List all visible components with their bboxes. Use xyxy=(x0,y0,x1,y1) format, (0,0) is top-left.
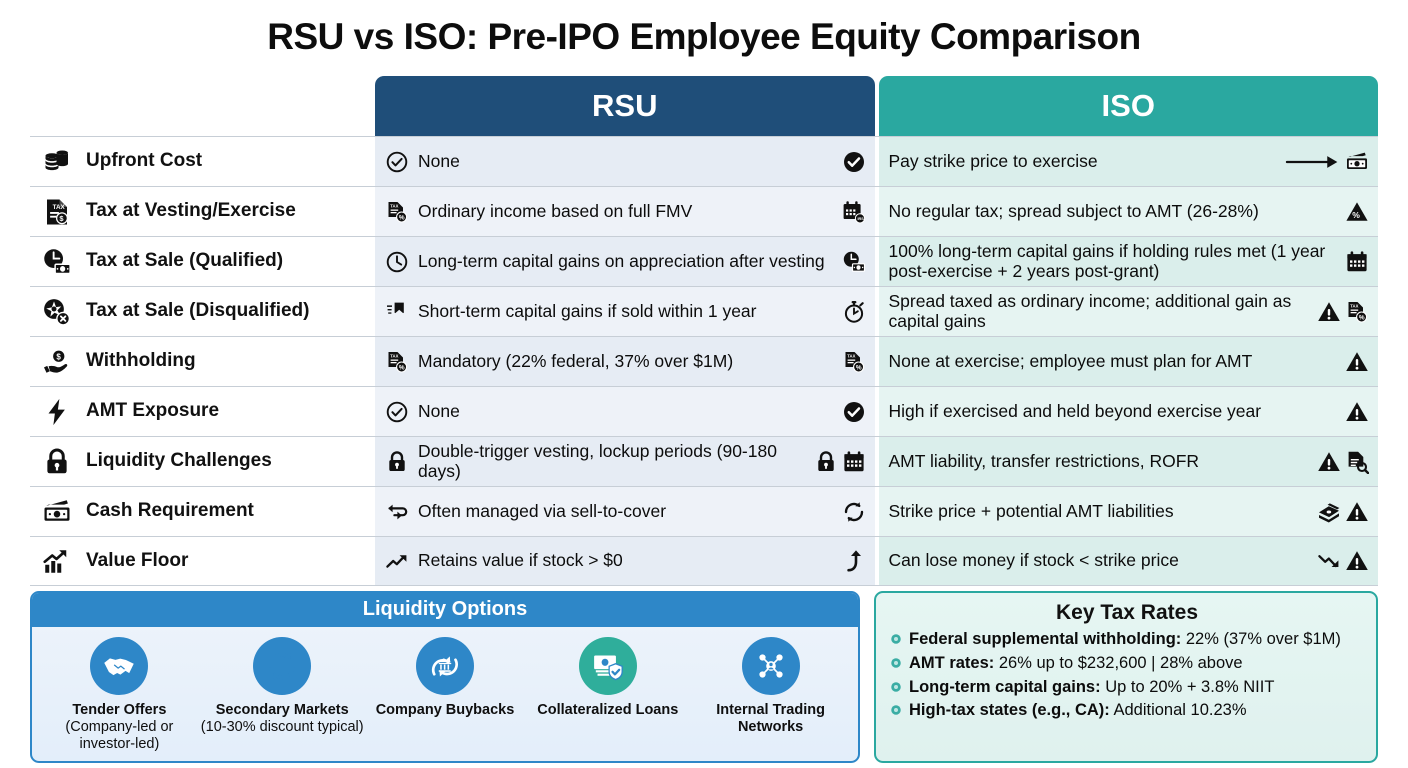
svg-text:%: % xyxy=(855,364,861,371)
rsu-cell: TAX%Mandatory (22% federal, 37% over $1M… xyxy=(375,337,875,386)
stopwatch-icon xyxy=(842,300,866,324)
liquidity-options-panel: Liquidity Options Tender Offers(Company-… xyxy=(30,591,860,763)
row-label-cell: Tax at Sale (Disqualified) xyxy=(30,287,375,336)
row-label-text: Liquidity Challenges xyxy=(86,451,272,472)
handshake-icon xyxy=(90,637,148,695)
infographic-page: RSU vs ISO: Pre-IPO Employee Equity Comp… xyxy=(0,0,1408,768)
tax-percent-doc-icon: TAX% xyxy=(385,200,409,224)
key-tax-rate-item: High-tax states (e.g., CA): Additional 1… xyxy=(890,700,1364,721)
liquidity-option-name: Collateralized Loans xyxy=(537,702,678,719)
svg-text:%: % xyxy=(1352,210,1360,220)
iso-cell: 100% long-term capital gains if holding … xyxy=(879,237,1379,286)
rsu-cell: None xyxy=(375,387,875,436)
table-row: Cash RequirementOften managed via sell-t… xyxy=(30,486,1378,536)
svg-text:TAX: TAX xyxy=(390,353,398,358)
check-circle-outline-icon xyxy=(385,400,409,424)
svg-text:TAX: TAX xyxy=(390,203,398,208)
tax-percent-doc-icon: TAX% xyxy=(1345,300,1369,324)
rsu-cell-icons xyxy=(814,450,866,474)
rsu-cell-icons xyxy=(842,400,866,424)
warning-triangle-icon xyxy=(1345,500,1369,524)
check-circle-outline-icon xyxy=(385,150,409,174)
key-tax-rate-text: Federal supplemental withholding: 22% (3… xyxy=(909,629,1341,650)
rsu-cell: Short-term capital gains if sold within … xyxy=(375,287,875,336)
key-tax-rate-item: Federal supplemental withholding: 22% (3… xyxy=(890,629,1364,650)
row-label-cell: TAX$Tax at Vesting/Exercise xyxy=(30,187,375,236)
iso-cell: Can lose money if stock < strike price xyxy=(879,537,1379,585)
key-tax-rate-label: AMT rates: xyxy=(909,654,994,672)
teal-bullet-icon xyxy=(890,657,902,669)
rsu-cell-text: Long-term capital gains on appreciation … xyxy=(418,252,833,272)
tax-percent-doc-icon: TAX% xyxy=(385,350,409,374)
key-tax-rate-text: AMT rates: 26% up to $232,600 | 28% abov… xyxy=(909,653,1243,674)
warning-triangle-icon xyxy=(1317,300,1341,324)
liquidity-option-item[interactable]: Internal Trading Networks xyxy=(689,637,852,753)
rsu-cell-icons xyxy=(842,500,866,524)
rsu-cell-text: Often managed via sell-to-cover xyxy=(418,502,833,522)
svg-text:TAX: TAX xyxy=(847,353,855,358)
svg-text:TAX: TAX xyxy=(1350,303,1358,308)
iso-cell: Strike price + potential AMT liabilities xyxy=(879,487,1379,536)
bank-buyback-icon xyxy=(416,637,474,695)
iso-cell-icons: % xyxy=(1345,200,1369,224)
warning-triangle-icon xyxy=(1345,400,1369,424)
liquidity-options-list: Tender Offers(Company-led or investor-le… xyxy=(32,627,858,761)
row-label-cell: Liquidity Challenges xyxy=(30,437,375,486)
cash-shield-icon xyxy=(579,637,637,695)
svg-text:%: % xyxy=(399,364,405,371)
row-label-text: Tax at Vesting/Exercise xyxy=(86,201,296,222)
rsu-cell: None xyxy=(375,137,875,186)
iso-cell-text: AMT liability, transfer restrictions, RO… xyxy=(889,452,1309,472)
table-row: Liquidity ChallengesDouble-trigger vesti… xyxy=(30,436,1378,486)
warning-triangle-icon xyxy=(1317,450,1341,474)
liquidity-option-item[interactable]: Company Buybacks xyxy=(364,637,527,753)
cash-bills-icon xyxy=(42,497,72,527)
check-circle-filled-icon xyxy=(842,400,866,424)
rsu-cell: Double-trigger vesting, lockup periods (… xyxy=(375,437,875,486)
calendar-icon xyxy=(842,450,866,474)
percent-triangle-icon: % xyxy=(1345,200,1369,224)
refresh-circular-icon xyxy=(253,637,311,695)
tax-document-icon: TAX$ xyxy=(42,197,72,227)
rsu-cell-icons xyxy=(842,549,866,573)
cash-bill-icon xyxy=(1345,150,1369,174)
broken-clock-x-icon xyxy=(42,297,72,327)
iso-cell-icons xyxy=(1317,500,1369,524)
calendar-icon xyxy=(1345,250,1369,274)
header-spacer xyxy=(30,76,375,136)
rsu-cell-icons xyxy=(842,300,866,324)
calendar-irs-icon: IRS xyxy=(842,200,866,224)
iso-cell-text: Spread taxed as ordinary income; additio… xyxy=(889,292,1309,331)
iso-cell: None at exercise; employee must plan for… xyxy=(879,337,1379,386)
row-label-text: Tax at Sale (Qualified) xyxy=(86,251,283,272)
key-tax-rate-text: Long-term capital gains: Up to 20% + 3.8… xyxy=(909,677,1274,698)
svg-text:$: $ xyxy=(56,352,61,361)
lock-icon xyxy=(42,447,72,477)
liquidity-option-item[interactable]: Tender Offers(Company-led or investor-le… xyxy=(38,637,201,753)
liquidity-option-sub: (Company-led or investor-led) xyxy=(38,719,201,753)
iso-cell-icons xyxy=(1345,350,1369,374)
row-label-text: Cash Requirement xyxy=(86,501,254,522)
iso-cell-text: Can lose money if stock < strike price xyxy=(889,551,1309,571)
money-stack-icon xyxy=(1317,500,1341,524)
lightning-bolt-icon xyxy=(42,397,72,427)
table-body: Upfront CostNonePay strike price to exer… xyxy=(30,136,1378,586)
key-tax-rates-heading: Key Tax Rates xyxy=(890,601,1364,625)
key-tax-rate-item: Long-term capital gains: Up to 20% + 3.8… xyxy=(890,677,1364,698)
key-tax-rate-item: AMT rates: 26% up to $232,600 | 28% abov… xyxy=(890,653,1364,674)
clock-cash-icon xyxy=(42,247,72,277)
iso-cell: High if exercised and held beyond exerci… xyxy=(879,387,1379,436)
arrow-right-icon xyxy=(1284,151,1341,173)
lock-icon xyxy=(814,450,838,474)
rsu-cell: Often managed via sell-to-cover xyxy=(375,487,875,536)
trend-up-icon xyxy=(385,549,409,573)
svg-text:%: % xyxy=(1359,314,1365,321)
key-tax-rate-value: 26% up to $232,600 | 28% above xyxy=(999,654,1243,672)
rsu-cell-icons: TAX% xyxy=(842,350,866,374)
rsu-cell-text: Retains value if stock > $0 xyxy=(418,551,833,571)
liquidity-options-heading: Liquidity Options xyxy=(32,593,858,627)
key-tax-rate-label: High-tax states (e.g., CA): xyxy=(909,701,1110,719)
key-tax-rate-value: 22% (37% over $1M) xyxy=(1186,630,1341,648)
iso-cell-icons: TAX% xyxy=(1317,300,1369,324)
page-title: RSU vs ISO: Pre-IPO Employee Equity Comp… xyxy=(0,0,1408,62)
teal-bullet-icon xyxy=(890,704,902,716)
network-nodes-icon xyxy=(742,637,800,695)
iso-cell-text: Strike price + potential AMT liabilities xyxy=(889,502,1309,522)
key-tax-rate-label: Federal supplemental withholding: xyxy=(909,630,1181,648)
rsu-cell-text: Short-term capital gains if sold within … xyxy=(418,302,833,322)
key-tax-rate-value: Additional 10.23% xyxy=(1113,701,1246,719)
row-label-text: Withholding xyxy=(86,351,196,372)
liquidity-option-name: Secondary Markets xyxy=(216,702,349,719)
table-row: TAX$Tax at Vesting/ExerciseTAX%Ordinary … xyxy=(30,186,1378,236)
row-label-cell: Upfront Cost xyxy=(30,137,375,186)
key-tax-rates-panel: Key Tax Rates Federal supplemental withh… xyxy=(874,591,1378,763)
tax-percent-doc-icon: TAX% xyxy=(842,350,866,374)
teal-bullet-icon xyxy=(890,633,902,645)
iso-cell: Spread taxed as ordinary income; additio… xyxy=(879,287,1379,336)
iso-cell-text: High if exercised and held beyond exerci… xyxy=(889,402,1337,422)
key-tax-rate-value: Up to 20% + 3.8% NIIT xyxy=(1105,678,1274,696)
row-label-cell: AMT Exposure xyxy=(30,387,375,436)
row-label-cell: Value Floor xyxy=(30,537,375,585)
table-row: Upfront CostNonePay strike price to exer… xyxy=(30,136,1378,186)
table-row: Tax at Sale (Qualified)Long-term capital… xyxy=(30,236,1378,286)
iso-cell-text: No regular tax; spread subject to AMT (2… xyxy=(889,202,1337,222)
key-tax-rate-label: Long-term capital gains: xyxy=(909,678,1101,696)
warning-triangle-icon xyxy=(1345,350,1369,374)
swap-arrows-icon xyxy=(385,500,409,524)
trend-down-icon xyxy=(1317,549,1341,573)
comparison-table: RSU ISO Upfront CostNonePay strike price… xyxy=(30,76,1378,586)
rsu-cell: TAX%Ordinary income based on full FMVIRS xyxy=(375,187,875,236)
rsu-cell-icons xyxy=(842,150,866,174)
svg-text:IRS: IRS xyxy=(857,217,864,221)
liquidity-option-name: Internal Trading Networks xyxy=(689,702,852,736)
row-label-cell: Tax at Sale (Qualified) xyxy=(30,237,375,286)
rsu-cell-icons xyxy=(842,250,866,274)
iso-cell-text: None at exercise; employee must plan for… xyxy=(889,352,1337,372)
iso-cell: No regular tax; spread subject to AMT (2… xyxy=(879,187,1379,236)
table-row: $WithholdingTAX%Mandatory (22% federal, … xyxy=(30,336,1378,386)
iso-cell-text: 100% long-term capital gains if holding … xyxy=(889,242,1337,281)
row-label-cell: Cash Requirement xyxy=(30,487,375,536)
iso-cell-icons xyxy=(1317,450,1369,474)
rsu-cell-text: None xyxy=(418,152,833,172)
rsu-cell-text: Mandatory (22% federal, 37% over $1M) xyxy=(418,352,833,372)
liquidity-option-name: Company Buybacks xyxy=(376,702,515,719)
rsu-cell-text: Ordinary income based on full FMV xyxy=(418,202,833,222)
table-row: AMT ExposureNoneHigh if exercised and he… xyxy=(30,386,1378,436)
key-tax-rate-text: High-tax states (e.g., CA): Additional 1… xyxy=(909,700,1246,721)
iso-cell: Pay strike price to exercise xyxy=(879,137,1379,186)
iso-cell-text: Pay strike price to exercise xyxy=(889,152,1275,172)
table-row: Value FloorRetains value if stock > $0Ca… xyxy=(30,536,1378,586)
row-label-cell: $Withholding xyxy=(30,337,375,386)
growth-chart-icon xyxy=(42,546,72,576)
column-header-iso: ISO xyxy=(879,76,1379,136)
iso-cell: AMT liability, transfer restrictions, RO… xyxy=(879,437,1379,486)
page-flag-icon xyxy=(385,300,409,324)
refresh-circular-icon xyxy=(842,500,866,524)
check-circle-filled-icon xyxy=(842,150,866,174)
row-label-text: Tax at Sale (Disqualified) xyxy=(86,301,309,322)
iso-cell-icons xyxy=(1345,250,1369,274)
rsu-cell-text: Double-trigger vesting, lockup periods (… xyxy=(418,442,805,481)
lock-icon xyxy=(385,450,409,474)
document-search-icon xyxy=(1345,450,1369,474)
warning-triangle-icon xyxy=(1345,549,1369,573)
table-row: Tax at Sale (Disqualified)Short-term cap… xyxy=(30,286,1378,336)
svg-text:%: % xyxy=(399,214,405,221)
rsu-cell-text: None xyxy=(418,402,833,422)
key-tax-rates-list: Federal supplemental withholding: 22% (3… xyxy=(890,629,1364,721)
row-label-text: Value Floor xyxy=(86,551,188,572)
iso-cell-icons xyxy=(1284,150,1369,174)
clock-cash-icon xyxy=(842,250,866,274)
table-header-row: RSU ISO xyxy=(30,76,1378,136)
liquidity-option-item[interactable]: Collateralized Loans xyxy=(526,637,689,753)
liquidity-option-item[interactable]: Secondary Markets(10-30% discount typica… xyxy=(201,637,364,753)
rsu-cell: Long-term capital gains on appreciation … xyxy=(375,237,875,286)
teal-bullet-icon xyxy=(890,681,902,693)
column-header-rsu: RSU xyxy=(375,76,875,136)
row-label-text: AMT Exposure xyxy=(86,401,219,422)
row-label-text: Upfront Cost xyxy=(86,151,202,172)
rsu-cell: Retains value if stock > $0 xyxy=(375,537,875,585)
hand-dollar-icon: $ xyxy=(42,347,72,377)
rsu-cell-icons: IRS xyxy=(842,200,866,224)
liquidity-option-sub: (10-30% discount typical) xyxy=(201,719,364,736)
liquidity-option-name: Tender Offers xyxy=(72,702,166,719)
iso-cell-icons xyxy=(1317,549,1369,573)
arrow-curve-up-icon xyxy=(842,549,866,573)
coins-stack-icon xyxy=(42,147,72,177)
iso-cell-icons xyxy=(1345,400,1369,424)
svg-text:TAX: TAX xyxy=(53,203,66,210)
clock-icon xyxy=(385,250,409,274)
bottom-panels: Liquidity Options Tender Offers(Company-… xyxy=(30,591,1378,763)
